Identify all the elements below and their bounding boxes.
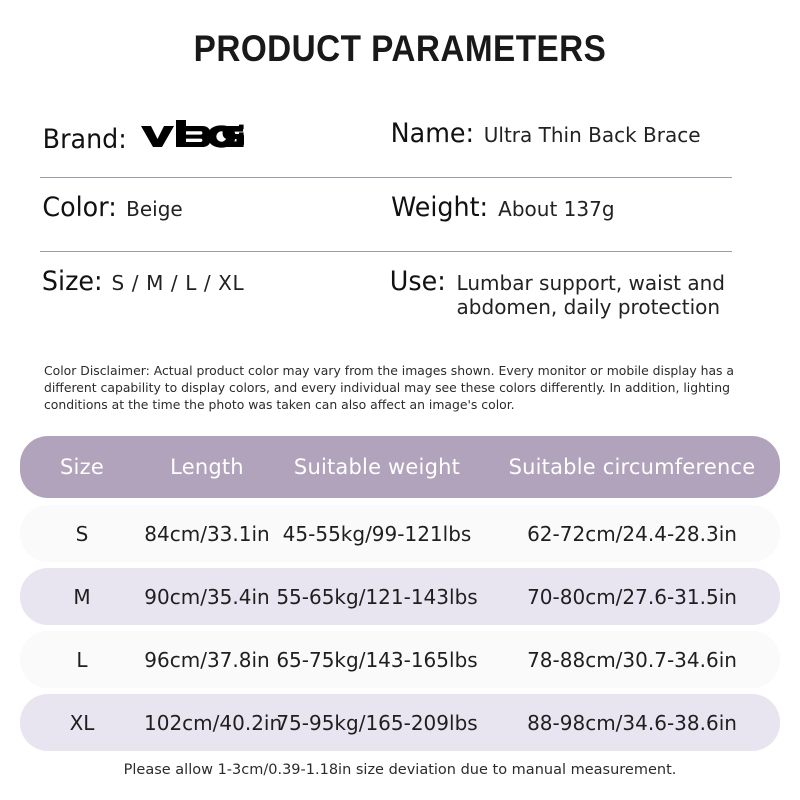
column-header-suitable-circumference: Suitable circumference <box>484 455 780 479</box>
spec-name-value: Ultra Thin Back Brace <box>484 124 701 148</box>
table-row: XL 102cm/40.2in 75-95kg/165-209lbs 88-98… <box>20 694 780 751</box>
column-header-suitable-weight: Suitable weight <box>270 455 484 479</box>
column-header-size: Size <box>20 455 144 479</box>
spec-use: Use: Lumbar support, waist and abdomen, … <box>388 252 732 319</box>
table-row: L 96cm/37.8in 65-75kg/143-165lbs 78-88cm… <box>20 631 780 688</box>
spec-weight: Weight: About 137g <box>388 178 732 223</box>
cell-size: XL <box>20 711 144 735</box>
cell-weight: 55-65kg/121-143lbs <box>270 585 484 609</box>
table-row: S 84cm/33.1in 45-55kg/99-121lbs 62-72cm/… <box>20 505 780 562</box>
spec-size: Size: S / M / L / XL <box>40 252 388 297</box>
spec-use-value-line2: abdomen, daily protection <box>457 295 721 319</box>
cell-size: M <box>20 585 144 609</box>
vbosi-brand-logo <box>140 118 244 148</box>
cell-circumference: 70-80cm/27.6-31.5in <box>484 585 780 609</box>
spec-color-label: Color: <box>42 192 116 223</box>
cell-length: 96cm/37.8in <box>144 648 270 672</box>
spec-use-value: Lumbar support, waist and abdomen, daily… <box>457 272 725 319</box>
cell-size: S <box>20 522 144 546</box>
spec-name-label: Name: <box>391 118 474 149</box>
cell-weight: 75-95kg/165-209lbs <box>270 711 484 735</box>
product-parameters-infographic: PRODUCT PARAMETERS Brand: <box>0 0 800 800</box>
cell-size: L <box>20 648 144 672</box>
spec-brand-label: Brand: <box>43 124 127 155</box>
table-row: M 90cm/35.4in 55-65kg/121-143lbs 70-80cm… <box>20 568 780 625</box>
cell-length: 84cm/33.1in <box>144 522 270 546</box>
color-disclaimer: Color Disclaimer: Actual product color m… <box>44 362 756 413</box>
measurement-note: Please allow 1-3cm/0.39-1.18in size devi… <box>0 762 800 778</box>
cell-length: 102cm/40.2in <box>144 711 270 735</box>
spec-use-value-line1: Lumbar support, waist and <box>457 271 725 295</box>
spec-row-color-weight: Color: Beige Weight: About 137g <box>40 178 732 252</box>
cell-length: 90cm/35.4in <box>144 585 270 609</box>
cell-circumference: 88-98cm/34.6-38.6in <box>484 711 780 735</box>
spec-list: Brand: <box>40 104 732 326</box>
cell-weight: 45-55kg/99-121lbs <box>270 522 484 546</box>
cell-weight: 65-75kg/143-165lbs <box>270 648 484 672</box>
spec-size-label: Size: <box>42 266 103 297</box>
spec-row-brand-name: Brand: <box>40 104 732 178</box>
page-title: PRODUCT PARAMETERS <box>40 28 760 70</box>
spec-row-size-use: Size: S / M / L / XL Use: Lumbar support… <box>40 252 732 326</box>
size-chart-header-row: Size Length Suitable weight Suitable cir… <box>20 436 780 498</box>
cell-circumference: 78-88cm/30.7-34.6in <box>484 648 780 672</box>
spec-use-label: Use: <box>390 266 446 297</box>
spec-weight-label: Weight: <box>391 192 488 223</box>
size-chart-table: Size Length Suitable weight Suitable cir… <box>20 436 780 757</box>
spec-name: Name: Ultra Thin Back Brace <box>388 104 732 149</box>
column-header-length: Length <box>144 455 270 479</box>
spec-size-value: S / M / L / XL <box>112 272 245 296</box>
spec-brand: Brand: <box>40 104 388 155</box>
cell-circumference: 62-72cm/24.4-28.3in <box>484 522 780 546</box>
spec-color-value: Beige <box>126 198 183 222</box>
spec-weight-value: About 137g <box>498 198 614 222</box>
spec-color: Color: Beige <box>40 178 388 223</box>
